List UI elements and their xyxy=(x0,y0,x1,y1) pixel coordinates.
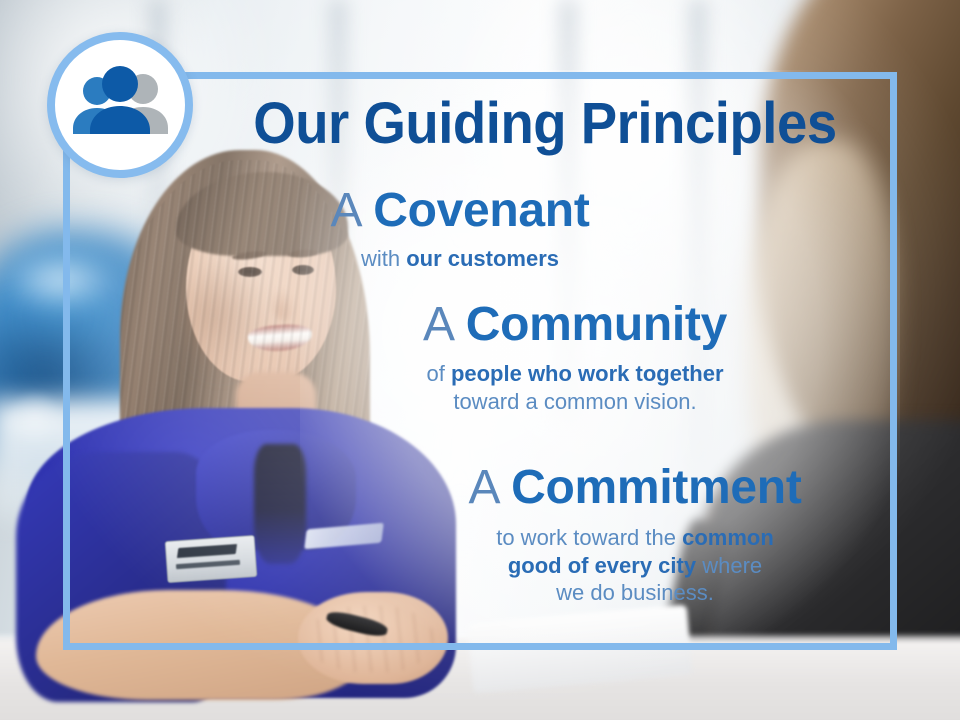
subtext-emphasis: common xyxy=(682,525,774,550)
employee-name-badge xyxy=(165,535,258,583)
principle-headline: A Covenant xyxy=(250,186,670,236)
subtext-line: good of every city where xyxy=(400,552,870,580)
principle-headline: A Community xyxy=(330,300,820,350)
subtext-line: toward a common vision. xyxy=(330,388,820,416)
principle-block-community: A Community of people who work togethert… xyxy=(330,300,820,415)
subtext-emphasis: people who work together xyxy=(451,361,724,386)
principle-article: A xyxy=(468,461,497,514)
associate-hand-detail xyxy=(306,606,434,672)
subtext-emphasis: our customers xyxy=(406,246,559,271)
principle-keyword: Community xyxy=(466,298,727,351)
principle-subtext: of people who work togethertoward a comm… xyxy=(330,360,820,415)
principle-article: A xyxy=(330,184,359,237)
subtext-line: with our customers xyxy=(250,245,670,273)
subtext-run: where xyxy=(696,553,762,578)
people-group-badge xyxy=(47,32,193,178)
principle-subtext: to work toward the commongood of every c… xyxy=(400,524,870,607)
associate-placket xyxy=(254,444,306,564)
principle-headline: A Commitment xyxy=(400,463,870,513)
subtext-line: we do business. xyxy=(400,579,870,607)
principle-keyword: Covenant xyxy=(373,184,589,237)
principle-subtext: with our customers xyxy=(250,245,670,273)
subtext-run: of xyxy=(426,361,450,386)
subtext-run: toward a common vision. xyxy=(453,389,696,414)
subtext-line: of people who work together xyxy=(330,360,820,388)
people-group-icon xyxy=(64,65,176,145)
subtext-emphasis: good of every city xyxy=(508,553,696,578)
principle-keyword: Commitment xyxy=(511,461,801,514)
blurred-car-highlight xyxy=(0,250,120,310)
principle-block-covenant: A Covenant with our customers xyxy=(250,186,670,273)
principle-article: A xyxy=(423,298,452,351)
subtext-run: to work toward the xyxy=(496,525,682,550)
subtext-line: to work toward the common xyxy=(400,524,870,552)
subtext-run: we do business. xyxy=(556,580,714,605)
guiding-principles-graphic: Our Guiding Principles A Covenant with o… xyxy=(0,0,960,720)
subtext-run: with xyxy=(361,246,406,271)
page-title: Our Guiding Principles xyxy=(225,95,864,153)
principle-block-commitment: A Commitment to work toward the commongo… xyxy=(400,463,870,607)
